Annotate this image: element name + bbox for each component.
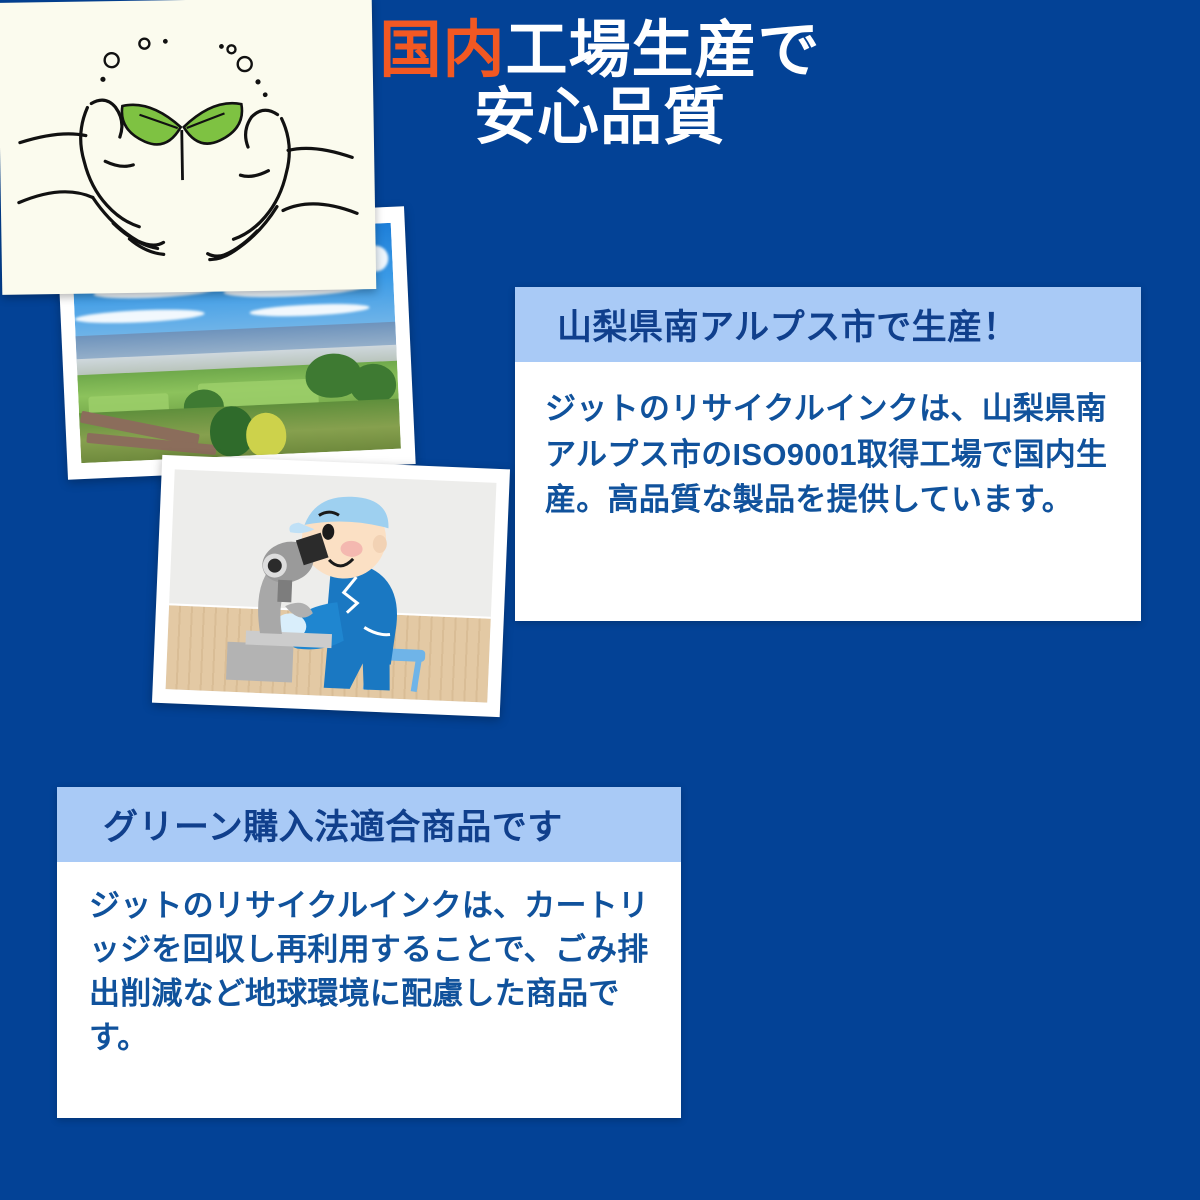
card-production-body: ジットのリサイクルインクは、山梨県南アルプス市のISO9001取得工場で国内生産… — [515, 362, 1141, 523]
card-green: グリーン購入法適合商品です ジットのリサイクルインクは、カートリッジを回収し再利… — [57, 787, 681, 1118]
card-green-body: ジットのリサイクルインクは、カートリッジを回収し再利用することで、ごみ排出削減な… — [57, 862, 681, 1060]
promo-page: 国内工場生産で 安心品質 — [0, 0, 1200, 1200]
card-production: 山梨県南アルプス市で生産！ ジットのリサイクルインクは、山梨県南アルプス市のIS… — [515, 287, 1141, 621]
hands-holding-sprout-icon — [0, 0, 376, 295]
microscope-scene-icon — [166, 469, 497, 702]
card-green-header: グリーン購入法適合商品です — [57, 787, 681, 862]
page-title-accent: 国内 — [379, 16, 505, 85]
page-title-line-1-rest: 工場生産で — [506, 16, 821, 85]
microscope-photo-frame — [152, 455, 510, 717]
card-production-header: 山梨県南アルプス市で生産！ — [515, 287, 1141, 362]
microscope-illustration — [166, 469, 497, 702]
sprout-illustration-card — [0, 0, 376, 295]
